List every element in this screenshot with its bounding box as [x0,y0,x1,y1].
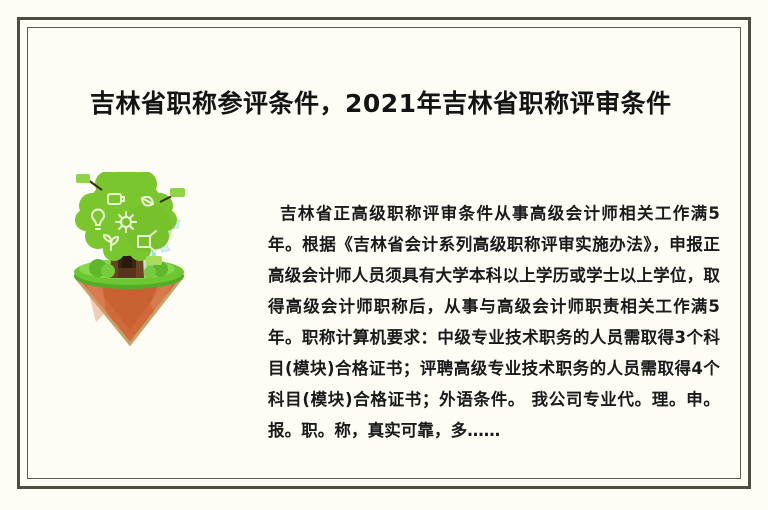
island-soil-icon [78,280,180,344]
leaf-tag-icon [146,256,162,265]
page-title: 吉林省职称参评条件，2021年吉林省职称评审条件 [90,84,672,120]
leaf-tag-icon [76,174,90,183]
eco-tree-illustration [64,172,194,347]
leaf-tag-icon [170,188,185,197]
page-root: 吉林省职称参评条件，2021年吉林省职称评审条件 [0,0,768,510]
article-body: 吉林省正高级职称评审条件从事高级会计师相关工作满5年。根据《吉林省会计系列高级职… [268,198,720,446]
